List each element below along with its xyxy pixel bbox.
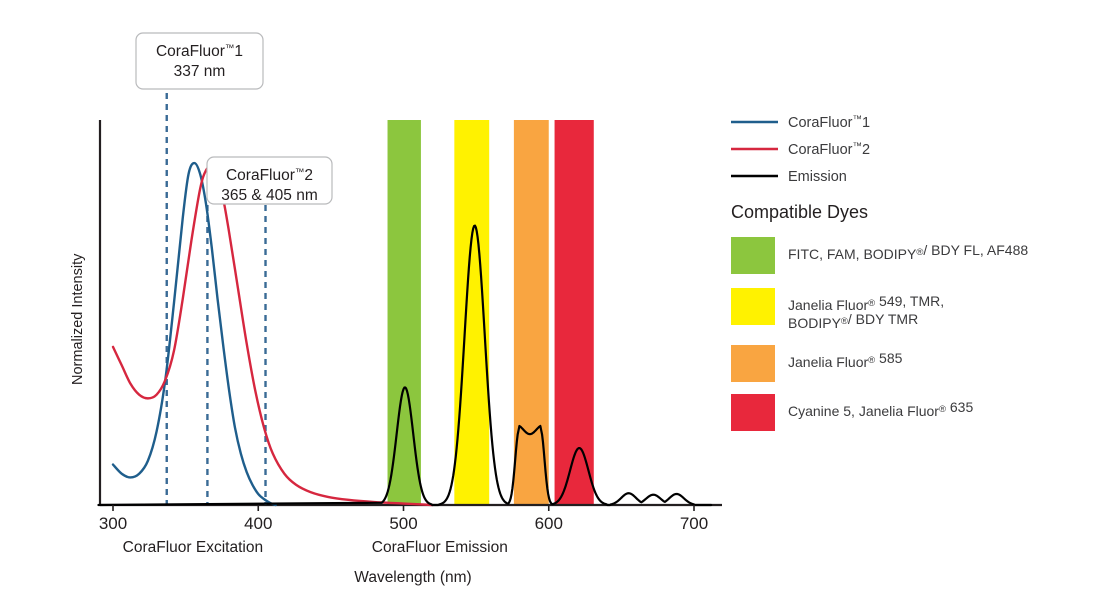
x-tick-label-400: 400 bbox=[244, 514, 272, 533]
x-tick-label-700: 700 bbox=[680, 514, 708, 533]
callout-line2-cf1: 337 nm bbox=[174, 63, 226, 80]
dye-swatch-3 bbox=[731, 394, 775, 431]
callout-line2-cf2: 365 & 405 nm bbox=[221, 187, 318, 204]
axis-region-label-1: CoraFluor Emission bbox=[372, 539, 508, 556]
spectra-figure: 300400500600700CoraFluor ExcitationCoraF… bbox=[0, 0, 1110, 612]
dye-swatch-2 bbox=[731, 345, 775, 382]
callout-cf2: CoraFluor™2365 & 405 nm bbox=[207, 157, 332, 204]
compatible-dyes-heading: Compatible Dyes bbox=[731, 202, 868, 222]
x-tick-label-500: 500 bbox=[389, 514, 417, 533]
axis-region-label-0: CoraFluor Excitation bbox=[123, 539, 263, 556]
red-band bbox=[555, 120, 594, 505]
callout-cf1: CoraFluor™1337 nm bbox=[136, 33, 263, 89]
x-axis-title: Wavelength (nm) bbox=[354, 569, 471, 586]
dye-swatch-0 bbox=[731, 237, 775, 274]
callout-box-cf1 bbox=[136, 33, 263, 89]
x-tick-label-300: 300 bbox=[99, 514, 127, 533]
dye-swatch-1 bbox=[731, 288, 775, 325]
x-tick-label-600: 600 bbox=[535, 514, 563, 533]
y-axis-title: Normalized Intensity bbox=[70, 253, 86, 385]
legend-label-2: Emission bbox=[788, 169, 847, 185]
